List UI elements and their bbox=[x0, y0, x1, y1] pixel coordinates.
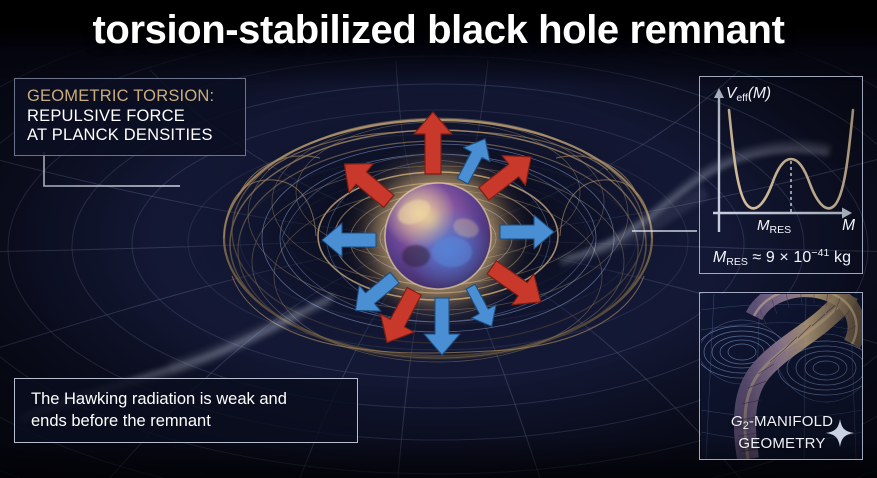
callout-line-3: AT PLANCK DENSITIES bbox=[27, 126, 235, 146]
mres-formula: MRES ≈ 9 × 10−41 kg bbox=[700, 247, 864, 268]
caption-line-1: The Hawking radiation is weak and bbox=[31, 388, 343, 410]
hawking-radiation-caption: The Hawking radiation is weak and ends b… bbox=[14, 378, 358, 443]
callout-leader-line bbox=[44, 152, 180, 186]
black-hole-remnant-sphere bbox=[385, 183, 491, 289]
page-title: torsion-stabilized black hole remnant bbox=[0, 8, 877, 53]
sparkle-icon bbox=[826, 419, 854, 447]
effective-potential-panel: Veff(M) M MRES MRES ≈ 9 × 10−41 kg bbox=[699, 76, 863, 274]
g2-manifold-panel: G2-MANIFOLD GEOMETRY bbox=[699, 292, 863, 460]
chart-mres-tick-label: MRES bbox=[757, 217, 791, 236]
callout-line-1: GEOMETRIC TORSION: bbox=[27, 87, 235, 107]
geometric-torsion-callout: GEOMETRIC TORSION: REPULSIVE FORCE AT PL… bbox=[14, 78, 246, 156]
chart-y-axis-label: Veff(M) bbox=[726, 85, 771, 104]
callout-line-2: REPULSIVE FORCE bbox=[27, 107, 235, 127]
caption-line-2: ends before the remnant bbox=[31, 410, 343, 432]
illustration-canvas: torsion-stabilized black hole remnant GE… bbox=[0, 0, 877, 478]
chart-x-axis-label: M bbox=[842, 217, 855, 235]
